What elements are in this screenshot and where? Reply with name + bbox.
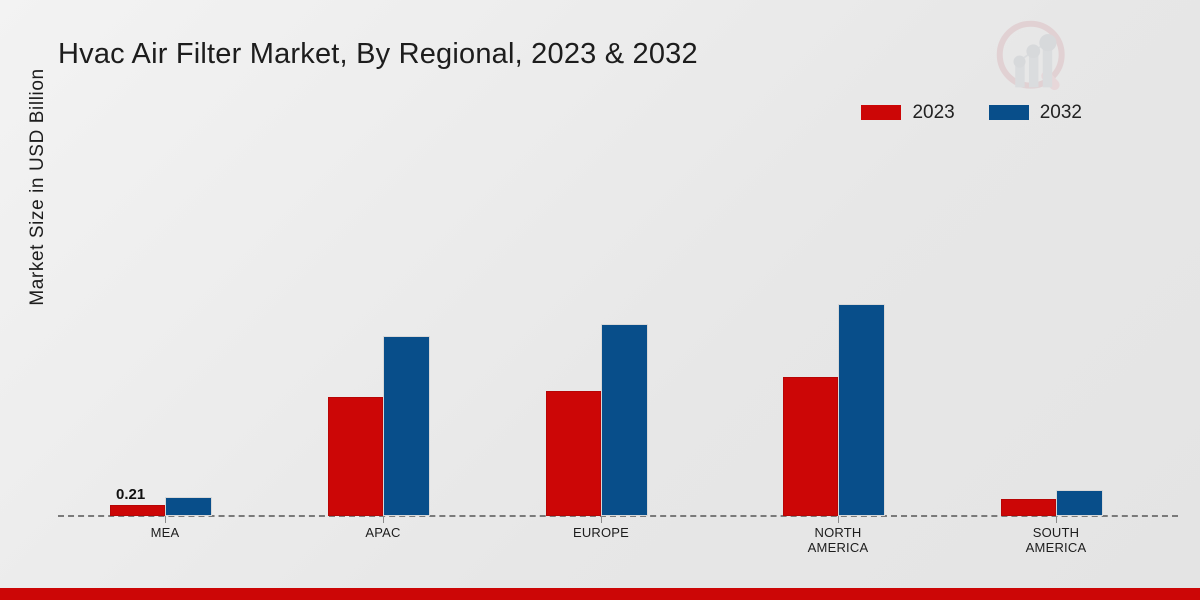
chart-figure: Hvac Air Filter Market, By Regional, 202… xyxy=(0,0,1200,600)
bar-2023-mea xyxy=(110,505,165,516)
x-axis-label-north-america: NORTHAMERICA xyxy=(808,525,869,555)
bar-2023-europe xyxy=(546,391,601,516)
x-axis-tick xyxy=(165,516,166,523)
bar-2023-south-america xyxy=(1001,499,1056,516)
x-axis-tick xyxy=(601,516,602,523)
plot-area: MEAAPACEUROPENORTHAMERICASOUTHAMERICA0.2… xyxy=(0,0,1200,600)
x-axis-label-mea: MEA xyxy=(151,525,180,540)
x-axis-label-europe: EUROPE xyxy=(573,525,629,540)
bottom-accent-strip xyxy=(0,588,1200,600)
bar-2023-north-america xyxy=(783,377,838,516)
bar-2032-europe xyxy=(601,324,648,516)
x-axis-tick xyxy=(1056,516,1057,523)
x-axis-tick xyxy=(383,516,384,523)
bar-2032-south-america xyxy=(1056,490,1103,516)
x-axis-label-apac: APAC xyxy=(365,525,400,540)
bar-2032-mea xyxy=(165,497,212,516)
bar-2032-apac xyxy=(383,336,430,516)
x-axis-tick xyxy=(838,516,839,523)
bar-value-label: 0.21 xyxy=(116,486,145,503)
bar-2023-apac xyxy=(328,397,383,516)
bar-2032-north-america xyxy=(838,304,885,516)
x-axis-label-south-america: SOUTHAMERICA xyxy=(1026,525,1087,555)
